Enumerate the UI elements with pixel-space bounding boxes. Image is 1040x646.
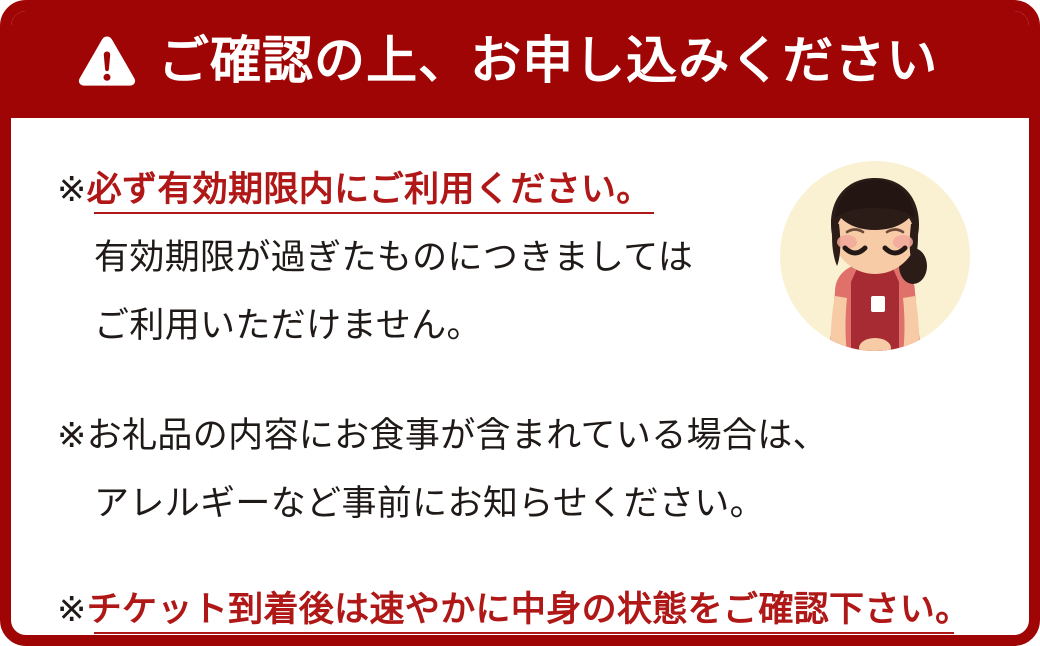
notice-header: ご確認の上、お申し込みください xyxy=(0,0,1040,118)
notice-paragraph-allergy: ※お礼品の内容にお食事が含まれている場合は、 アレルギーなど事前にお知らせくださ… xyxy=(57,402,1029,538)
notice-body: ※必ず有効期限内にご利用ください。 有効期限が過ぎたものにつきましては ご利用い… xyxy=(11,118,1029,635)
notice-line-text: 必ず有効期限内にご利用ください。 xyxy=(87,170,652,209)
page-title: ご確認の上、お申し込みください xyxy=(158,35,938,86)
notice-line-text: お礼品の内容にお食事が含まれている場合は、 xyxy=(87,416,828,455)
bullet-marker: ※ xyxy=(57,416,87,455)
notice-line: ※必ず有効期限内にご利用ください。 xyxy=(57,156,1029,224)
notice-line: ※チケット到着後は速やかに中身の状態をご確認下さい。 xyxy=(57,576,1029,644)
notice-line-text: アレルギーなど事前にお知らせください。 xyxy=(94,484,765,523)
warning-triangle-icon xyxy=(78,35,136,87)
bullet-marker: ※ xyxy=(57,170,87,209)
notice-card: ご確認の上、お申し込みください xyxy=(0,0,1040,646)
notice-line-text: 有効期限が過ぎたものにつきましては xyxy=(94,238,693,277)
notice-paragraph-arrival-check: ※チケット到着後は速やかに中身の状態をご確認下さい。 xyxy=(57,576,1029,644)
notice-line: アレルギーなど事前にお知らせください。 xyxy=(57,470,1029,538)
bullet-marker: ※ xyxy=(57,590,87,629)
notice-line: ※お礼品の内容にお食事が含まれている場合は、 xyxy=(57,402,1029,470)
red-underline xyxy=(94,212,654,214)
red-underline xyxy=(94,632,954,634)
notice-line-text: チケット到着後は速やかに中身の状態をご確認下さい。 xyxy=(87,590,971,629)
notice-line-text: ご利用いただけません。 xyxy=(94,306,482,345)
